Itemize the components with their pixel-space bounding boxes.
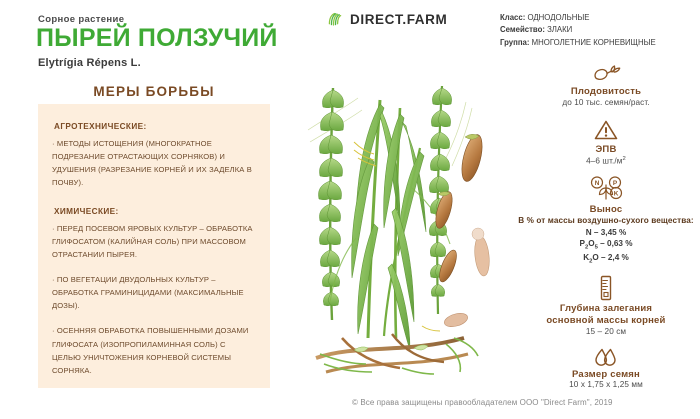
copyright-footer: © Все права защищены правообладателем ОО… xyxy=(352,398,613,407)
warning-triangle-icon xyxy=(593,118,619,142)
fact-sub: 10 x 1,75 x 1,25 мм xyxy=(512,380,700,391)
section-item: · МЕТОДЫ ИСТОЩЕНИЯ (МНОГОКРАТНОЕ ПОДРЕЗА… xyxy=(52,137,256,189)
plant-drawing xyxy=(296,38,501,388)
taxonomy-block: Класс: ОДНОДОЛЬНЫЕ Семейство: ЗЛАКИ Груп… xyxy=(500,12,696,49)
fact-sub-superscript: 2 xyxy=(623,156,626,162)
taxonomy-row-class: Класс: ОДНОДОЛЬНЫЕ xyxy=(500,12,696,24)
section-item: · ОСЕННЯЯ ОБРАБОТКА ПОВЫШЕННЫМИ ДОЗАМИ Г… xyxy=(52,324,256,376)
fact-title-line1: Глубина залегания xyxy=(512,303,700,315)
fact-title: Размер семян xyxy=(512,369,700,381)
taxonomy-value: МНОГОЛЕТНИЕ КОРНЕВИЩНЫЕ xyxy=(532,38,656,47)
taxonomy-row-family: Семейство: ЗЛАКИ xyxy=(500,24,696,36)
taxonomy-label: Семейство: xyxy=(500,25,545,34)
taxonomy-value: ЗЛАКИ xyxy=(547,25,572,34)
fact-removal: N P K Вынос В % от массы воздушно-сухого… xyxy=(512,176,700,265)
section-heading-chem: ХИМИЧЕСКИЕ: xyxy=(54,207,256,216)
two-seeds-icon xyxy=(591,347,621,367)
svg-text:P: P xyxy=(613,181,618,188)
nutrient-line-p: P2O5 – 0,63 % xyxy=(512,238,700,252)
nutrient-value: – 2,4 % xyxy=(599,253,629,262)
fact-seed-size: Размер семян 10 x 1,75 x 1,25 мм xyxy=(512,347,700,392)
page-title: ПЫРЕЙ ПОЛЗУЧИЙ xyxy=(36,26,278,51)
section-item: · ПО ВЕГЕТАЦИИ ДВУДОЛЬНЫХ КУЛЬТУР – ОБРА… xyxy=(52,273,256,312)
fact-depth: Глубина залегания основной массы корней … xyxy=(512,275,700,338)
fact-sub: 4–6 шт./м2 xyxy=(512,156,700,168)
infographic-page: Сорное растение ПЫРЕЙ ПОЛЗУЧИЙ Elytrígia… xyxy=(0,0,700,419)
seed-with-leaves-icon xyxy=(591,60,621,84)
logo-text: DIRECT.FARM xyxy=(350,12,447,27)
fact-sub: В % от массы воздушно-сухого вещества: xyxy=(512,216,700,227)
couch-grass-botanical-illustration xyxy=(296,38,501,388)
measures-panel: АГРОТЕХНИЧЕСКИЕ: · МЕТОДЫ ИСТОЩЕНИЯ (МНО… xyxy=(38,104,270,388)
brand-logo[interactable]: DIRECT.FARM xyxy=(326,11,447,28)
latin-name: Elytrígia Répens L. xyxy=(38,57,141,69)
fact-fertility: Плодовитость до 10 тыс. семян/раст. xyxy=(512,60,700,109)
fact-title: Плодовитость xyxy=(512,86,700,98)
nutrient-line-n: N – 3,45 % xyxy=(512,227,700,238)
ruler-depth-icon xyxy=(597,275,615,301)
svg-text:N: N xyxy=(595,181,600,188)
fact-threshold: ЭПВ 4–6 шт./м2 xyxy=(512,118,700,168)
facts-column: Плодовитость до 10 тыс. семян/раст. ЭПВ … xyxy=(512,60,700,400)
nutrient-line-k: K2O – 2,4 % xyxy=(512,252,700,266)
fact-sub: 15 – 20 см xyxy=(512,327,700,338)
taxonomy-label: Группа: xyxy=(500,38,529,47)
measures-title: МЕРЫ БОРЬБЫ xyxy=(38,84,270,99)
nutrient-value: – 0,63 % xyxy=(598,239,633,248)
taxonomy-row-group: Группа: МНОГОЛЕТНИЕ КОРНЕВИЩНЫЕ xyxy=(500,37,696,49)
left-column: Сорное растение ПЫРЕЙ ПОЛЗУЧИЙ Elytrígia… xyxy=(0,0,290,419)
direct-farm-leaf-mark xyxy=(326,11,343,28)
fact-title: ЭПВ xyxy=(512,144,700,156)
fact-title-line2: основной массы корней xyxy=(512,315,700,327)
section-item: · ПЕРЕД ПОСЕВОМ ЯРОВЫХ КУЛЬТУР – ОБРАБОТ… xyxy=(52,222,256,261)
fact-title: Вынос xyxy=(512,204,700,216)
svg-text:K: K xyxy=(614,191,619,198)
taxonomy-value: ОДНОДОЛЬНЫЕ xyxy=(528,13,590,22)
npk-leaf-icon: N P K xyxy=(585,176,627,202)
section-heading-agro: АГРОТЕХНИЧЕСКИЕ: xyxy=(54,122,256,131)
fact-sub-value: 4–6 шт./м xyxy=(586,156,622,165)
taxonomy-label: Класс: xyxy=(500,13,525,22)
fact-sub: до 10 тыс. семян/раст. xyxy=(512,98,700,109)
